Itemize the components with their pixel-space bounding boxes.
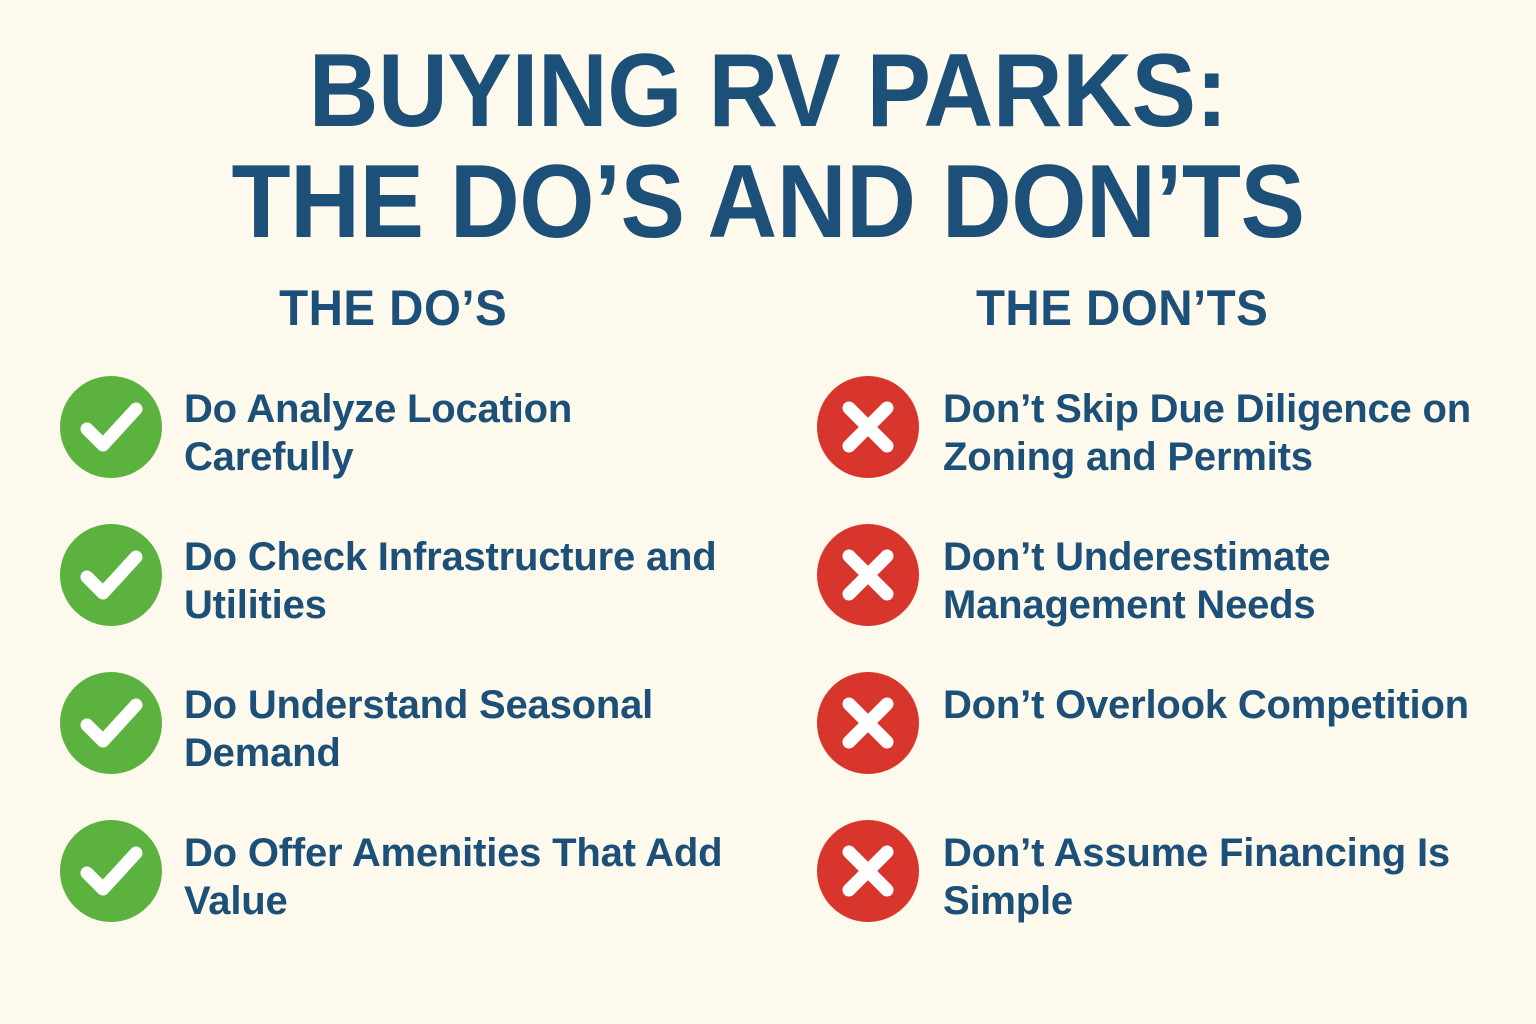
donts-heading: THE DON’TS [834,283,1473,333]
title-line-1: BUYING RV PARKS: [54,36,1482,147]
dos-list: Do Analyze Location Carefully Do Check I… [60,375,751,967]
list-item-label: Do Understand Seasonal Demand [162,671,744,779]
dos-heading: THE DO’S [77,283,733,333]
page-title: BUYING RV PARKS: THE DO’S AND DON’TS [0,0,1536,259]
list-item: Don’t Overlook Competition [817,671,1490,819]
dos-column: THE DO’S Do Analyze Location Carefully [60,283,775,967]
cross-circle-icon [817,820,919,922]
columns-container: THE DO’S Do Analyze Location Carefully [0,283,1536,967]
infographic-poster: BUYING RV PARKS: THE DO’S AND DON’TS THE… [0,0,1536,1024]
cross-circle-icon [817,672,919,774]
check-circle-icon [60,820,162,922]
list-item-label: Don’t Underestimate Management Needs [919,523,1490,631]
list-item: Don’t Skip Due Diligence on Zoning and P… [817,375,1490,523]
cross-circle-icon [817,376,919,478]
check-circle-icon [60,524,162,626]
list-item-label: Don’t Assume Financing Is Simple [919,819,1490,927]
list-item-label: Do Offer Amenities That Add Value [162,819,744,927]
donts-column: THE DON’TS Don’t Skip Due Diligence on Z… [775,283,1490,967]
list-item: Do Offer Amenities That Add Value [60,819,751,967]
donts-list: Don’t Skip Due Diligence on Zoning and P… [817,375,1490,967]
list-item: Don’t Assume Financing Is Simple [817,819,1490,967]
list-item: Don’t Underestimate Management Needs [817,523,1490,671]
list-item: Do Understand Seasonal Demand [60,671,751,819]
list-item-label: Don’t Overlook Competition [919,671,1469,730]
list-item: Do Analyze Location Carefully [60,375,751,523]
title-line-2: THE DO’S AND DON’TS [54,147,1482,258]
list-item: Do Check Infrastructure and Utilities [60,523,751,671]
cross-circle-icon [817,524,919,626]
list-item-label: Don’t Skip Due Diligence on Zoning and P… [919,375,1490,483]
check-circle-icon [60,376,162,478]
check-circle-icon [60,672,162,774]
list-item-label: Do Check Infrastructure and Utilities [162,523,744,631]
list-item-label: Do Analyze Location Carefully [162,375,744,483]
